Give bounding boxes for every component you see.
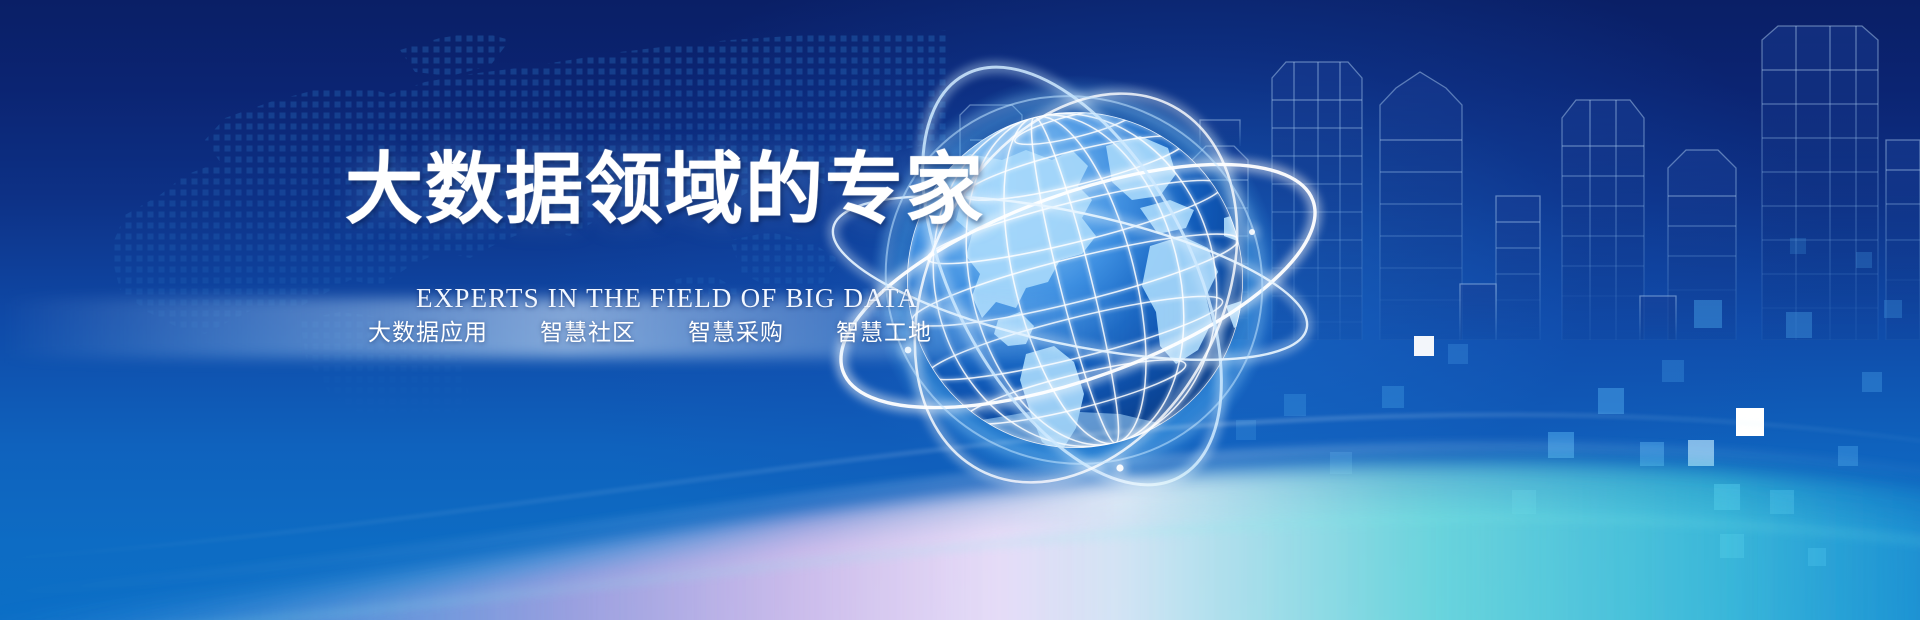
subtitle: EXPERTS IN THE FIELD OF BIG DATA xyxy=(416,283,918,314)
keyword-item-3[interactable]: 智慧采购 xyxy=(688,313,784,347)
light-sweep-icon xyxy=(0,350,1920,620)
keyword-item-2[interactable]: 智慧社区 xyxy=(540,313,636,347)
city-skyline-icon xyxy=(900,0,1920,340)
banner-root: 大数据领域的专家 EXPERTS IN THE FIELD OF BIG DAT… xyxy=(0,0,1920,620)
keyword-list: 大数据应用 智慧社区 智慧采购 智慧工地 xyxy=(368,313,932,347)
page-title: 大数据领域的专家 xyxy=(345,150,885,228)
keyword-item-1[interactable]: 大数据应用 xyxy=(368,313,488,347)
square-mosaic-icon xyxy=(0,0,1920,620)
banner-copy: 大数据领域的专家 EXPERTS IN THE FIELD OF BIG DAT… xyxy=(0,0,920,620)
keyword-item-4[interactable]: 智慧工地 xyxy=(836,313,932,347)
